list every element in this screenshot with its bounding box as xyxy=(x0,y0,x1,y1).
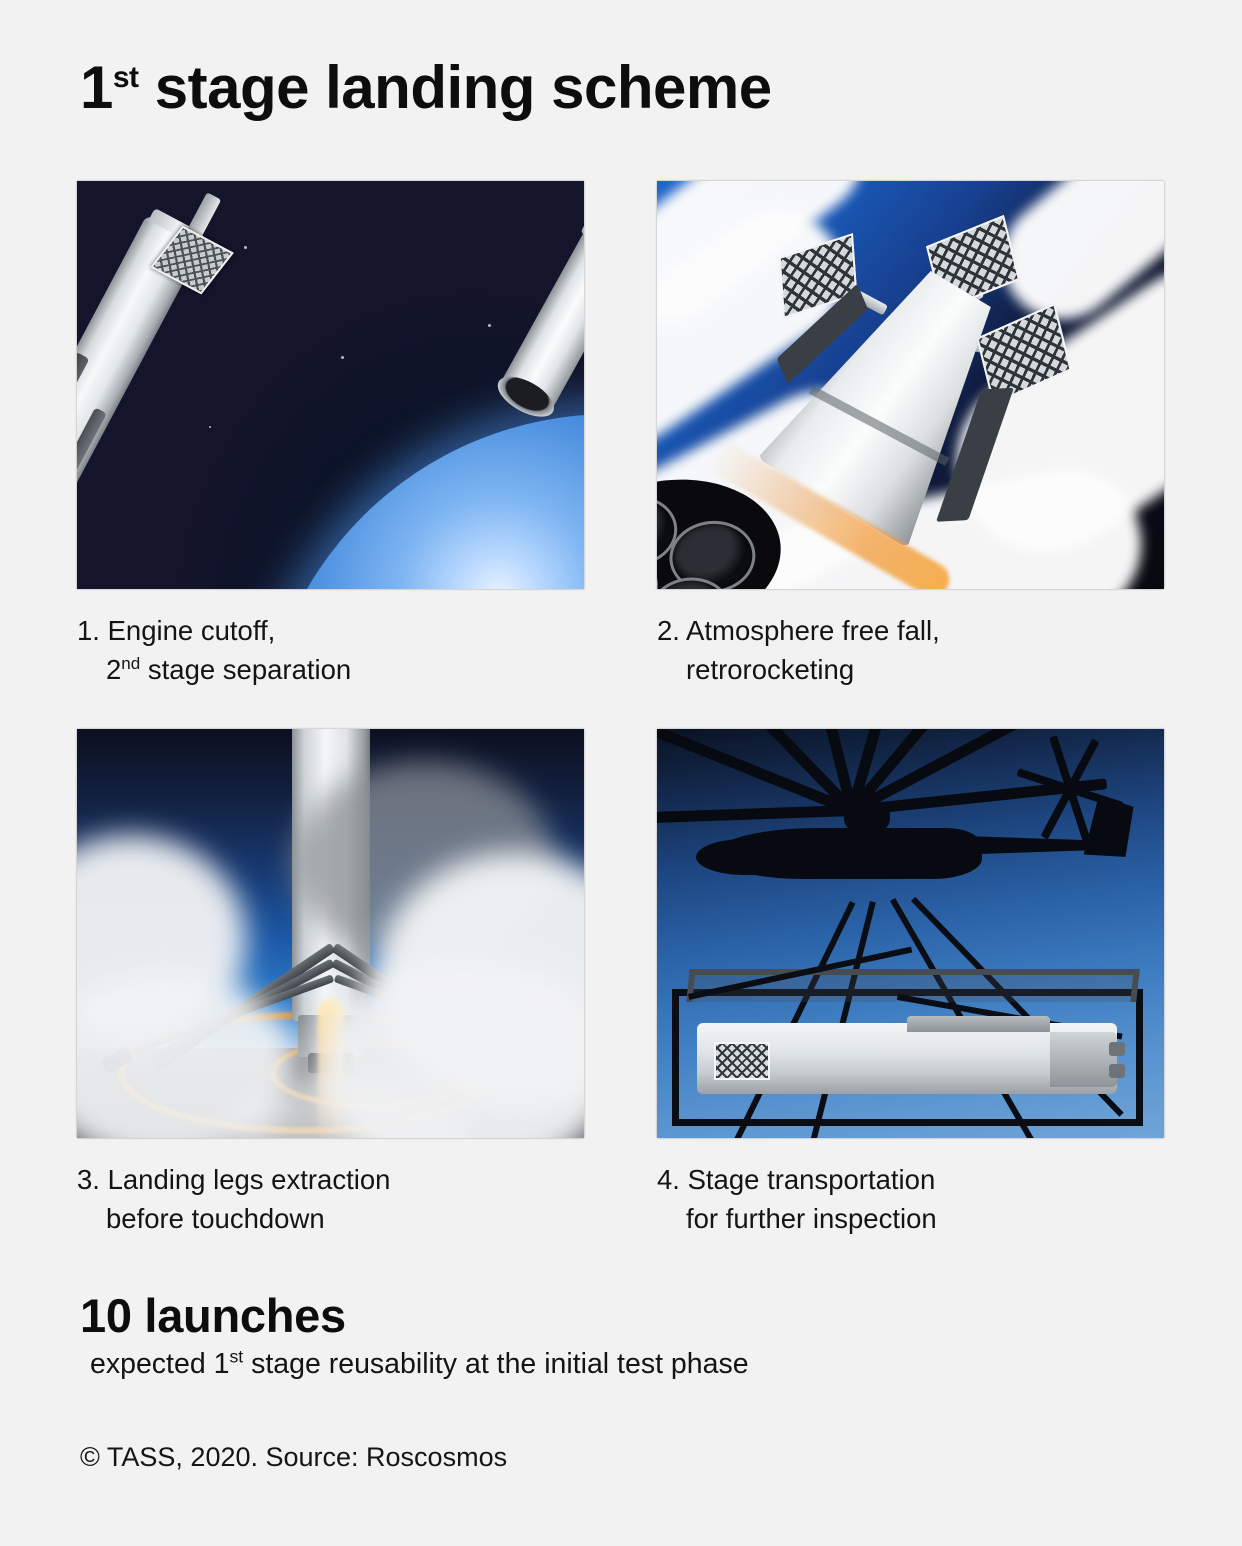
landing-legs-illustration xyxy=(77,729,584,1138)
step-caption-line2: 2nd stage separation xyxy=(77,650,584,689)
step-caption-3: 3. Landing legs extraction before touchd… xyxy=(77,1160,584,1238)
star-icon xyxy=(488,324,491,327)
cargo-nozzle xyxy=(1109,1064,1125,1078)
step-caption-line2-pre: 2 xyxy=(106,654,121,685)
steps-grid: 1. Engine cutoff, 2nd stage separation xyxy=(77,181,1167,1237)
recovered-stage-cargo xyxy=(697,1023,1117,1094)
helicopter-nose xyxy=(696,839,794,875)
step-caption-line1: 4. Stage transportation xyxy=(657,1164,935,1195)
step-card-4: 4. Stage transportation for further insp… xyxy=(657,729,1164,1238)
subtitle-pre: expected 1 xyxy=(90,1348,229,1380)
rotor-blade xyxy=(657,805,856,825)
step-caption-2: 2. Atmosphere free fall, retrorocketing xyxy=(657,611,1164,689)
step-caption-line1: 1. Engine cutoff, xyxy=(77,615,275,646)
page-title: 1st stage landing scheme xyxy=(80,56,772,119)
step-caption-line2: before touchdown xyxy=(77,1199,584,1238)
step-caption-line1: 3. Landing legs extraction xyxy=(77,1164,390,1195)
launch-count-subtitle: expected 1st stage reusability at the in… xyxy=(90,1348,749,1381)
step-caption-line1: 2. Atmosphere free fall, xyxy=(657,615,940,646)
step-caption-line2: retrorocketing xyxy=(657,650,1164,689)
step-caption-1: 1. Engine cutoff, 2nd stage separation xyxy=(77,611,584,689)
helicopter-transport-illustration xyxy=(657,729,1164,1138)
atmospheric-freefall-illustration xyxy=(657,181,1164,589)
page-title-rest: stage landing scheme xyxy=(139,54,772,121)
transport-cradle-frame xyxy=(672,989,1142,1126)
subtitle-sup: st xyxy=(229,1347,243,1367)
credit-line: © TASS, 2020. Source: Roscosmos xyxy=(80,1442,507,1473)
helicopter-tail-boom xyxy=(946,835,1098,855)
step-card-1: 1. Engine cutoff, 2nd stage separation xyxy=(77,181,584,689)
subtitle-post: stage reusability at the initial test ph… xyxy=(243,1348,748,1380)
cargo-engine-section xyxy=(1050,1032,1117,1088)
step-caption-line2: for further inspection xyxy=(657,1199,1164,1238)
step-caption-line2-post: stage separation xyxy=(140,654,351,685)
cargo-dorsal-stripe xyxy=(907,1016,1050,1032)
step-caption-line2-sup: nd xyxy=(121,654,140,673)
page-title-superscript: st xyxy=(113,61,139,94)
step-caption-4: 4. Stage transportation for further insp… xyxy=(657,1160,1164,1238)
cargo-nozzle xyxy=(1109,1042,1125,1056)
step-card-2: 2. Atmosphere free fall, retrorocketing xyxy=(657,181,1164,689)
step-card-3: 3. Landing legs extraction before touchd… xyxy=(77,729,584,1238)
page-title-prefix: 1 xyxy=(80,54,113,121)
launch-count-headline: 10 launches xyxy=(80,1288,346,1343)
grid-fin-icon xyxy=(714,1042,770,1080)
stage-separation-illustration xyxy=(77,181,584,589)
star-icon xyxy=(209,426,211,428)
helicopter-silhouette xyxy=(687,745,1133,925)
